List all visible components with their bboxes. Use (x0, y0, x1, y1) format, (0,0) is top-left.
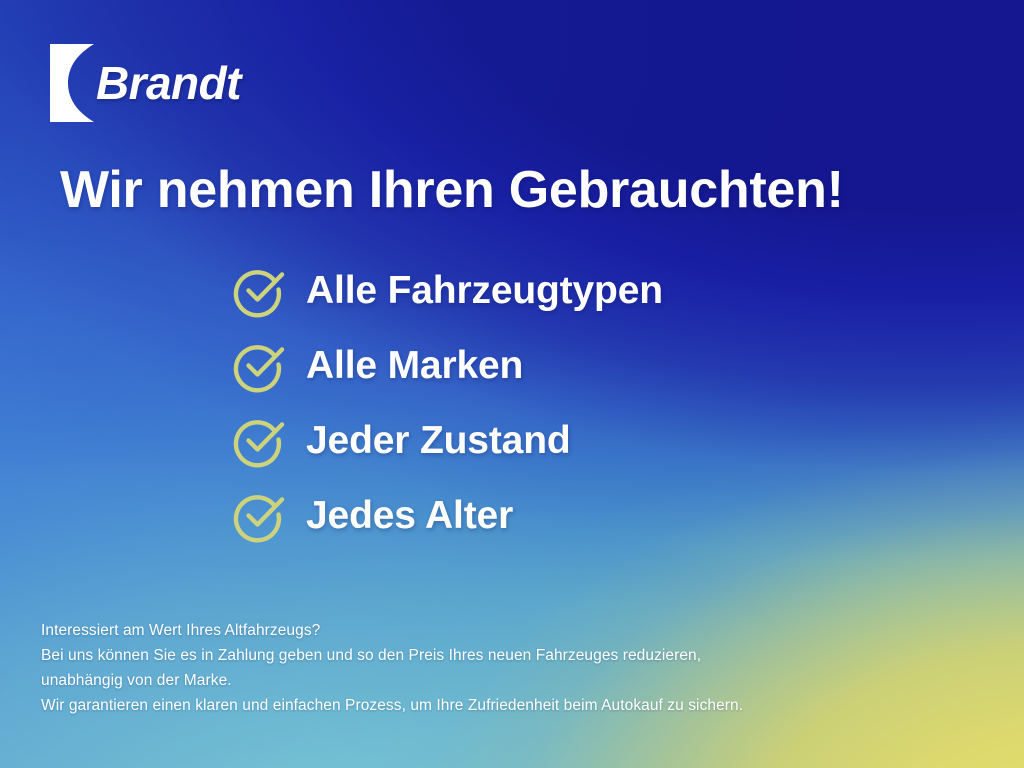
brandt-bracket-mark-icon (50, 44, 94, 122)
benefit-label: Jeder Zustand (306, 421, 571, 460)
footer-line: Interessiert am Wert Ihres Altfahrzeugs? (41, 618, 743, 643)
footer-paragraph: Interessiert am Wert Ihres Altfahrzeugs?… (41, 618, 743, 718)
promo-banner: Brandt Wir nehmen Ihren Gebrauchten! All… (0, 0, 1024, 768)
footer-line: Wir garantieren einen klaren und einfach… (41, 693, 743, 718)
benefit-label: Alle Marken (306, 346, 523, 385)
footer-line: Bei uns können Sie es in Zahlung geben u… (41, 643, 743, 668)
benefit-item: Alle Fahrzeugtypen (232, 262, 663, 318)
benefit-item: Jedes Alter (232, 487, 663, 543)
headline: Wir nehmen Ihren Gebrauchten! (60, 163, 844, 218)
check-circle-icon (232, 262, 288, 318)
footer-line: unabhängig von der Marke. (41, 668, 743, 693)
check-circle-icon (232, 337, 288, 393)
benefit-item: Alle Marken (232, 337, 663, 393)
benefit-label: Alle Fahrzeugtypen (306, 271, 663, 310)
brand-wordmark: Brandt (96, 60, 241, 106)
benefit-label: Jedes Alter (306, 496, 513, 535)
benefits-list: Alle Fahrzeugtypen Alle Marken Jeder Zus… (232, 262, 663, 543)
check-circle-icon (232, 412, 288, 468)
benefit-item: Jeder Zustand (232, 412, 663, 468)
brand-logo: Brandt (50, 44, 241, 122)
check-circle-icon (232, 487, 288, 543)
